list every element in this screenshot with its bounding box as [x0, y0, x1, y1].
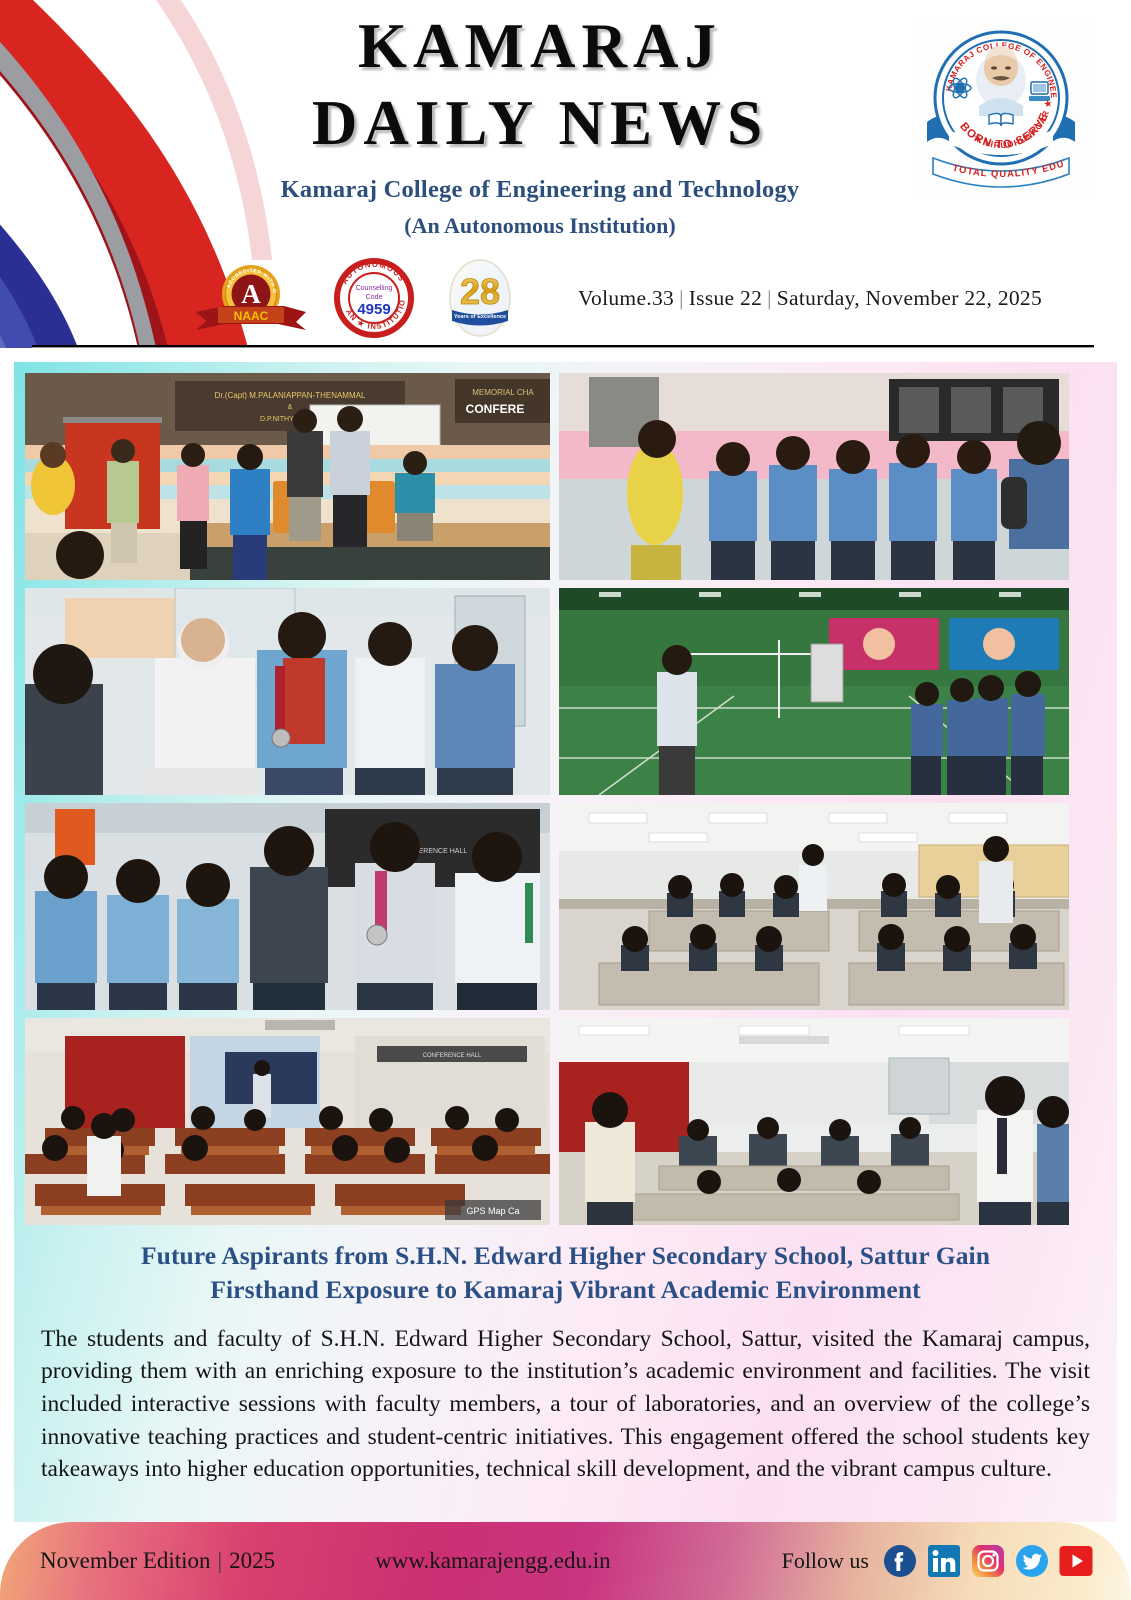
issue-line: Volume.33|Issue 22|Saturday, November 22…: [578, 286, 1042, 311]
autonomous-institution-badge: AUTONOMOUS AN ★ INSTITUTION Counselling …: [330, 258, 418, 338]
footer-separator: |: [211, 1548, 230, 1573]
gallery-photo: [25, 588, 550, 795]
gallery-photo: [559, 373, 1069, 580]
autonomy-status: (An Autonomous Institution): [175, 213, 905, 239]
svg-text:&: &: [288, 404, 293, 411]
story-headline-line2: Firsthand Exposure to Kamaraj Vibrant Ac…: [38, 1273, 1093, 1307]
svg-text:Code: Code: [366, 294, 383, 301]
masthead-header: KAMARAJ DAILY NEWS Kamaraj College of En…: [0, 0, 1131, 348]
footer-edition-label: November Edition: [40, 1548, 211, 1573]
story-body: The students and faculty of S.H.N. Edwar…: [38, 1323, 1093, 1486]
story-headline: Future Aspirants from S.H.N. Edward High…: [38, 1239, 1093, 1307]
svg-text:4959: 4959: [357, 301, 390, 318]
svg-text:CONFERE: CONFERE: [466, 402, 525, 416]
story-text-block: Future Aspirants from S.H.N. Edward High…: [25, 1225, 1106, 1486]
footer-social-block: Follow us: [782, 1544, 1093, 1578]
svg-text:NAAC: NAAC: [234, 309, 269, 323]
youtube-icon[interactable]: [1059, 1544, 1093, 1578]
footer-website[interactable]: www.kamarajengg.edu.in: [375, 1548, 610, 1574]
svg-text:Counselling: Counselling: [356, 285, 393, 292]
twitter-icon[interactable]: [1015, 1544, 1049, 1578]
svg-text:MEMORIAL CHA: MEMORIAL CHA: [472, 388, 534, 397]
naac-a-grade-badge: A ACCREDITED WITH GRADE NAAC: [192, 262, 310, 334]
gallery-photo: CONFERENCE HALL: [25, 1018, 550, 1225]
masthead-titles: KAMARAJ DAILY NEWS Kamaraj College of En…: [175, 8, 905, 239]
story-card: Dr.(Capt) M.PALANIAPPAN-THENAMMAL & D.P.…: [14, 362, 1117, 1522]
svg-text:GPS Map Ca: GPS Map Ca: [466, 1206, 519, 1216]
issue-separator-2: |: [762, 286, 777, 310]
college-crest-logo: KAMARAJ COLLEGE OF ENGINEERING & TECHNOL…: [913, 18, 1089, 194]
svg-text:A: A: [241, 279, 261, 309]
issue-separator-1: |: [674, 286, 689, 310]
issue-number: Issue 22: [689, 286, 762, 310]
gallery-photo: [559, 588, 1069, 795]
gallery-photo: [559, 803, 1069, 1010]
institution-name: Kamaraj College of Engineering and Techn…: [175, 176, 905, 204]
page-footer: November Edition|2025 www.kamarajengg.ed…: [0, 1522, 1131, 1600]
instagram-icon[interactable]: [971, 1544, 1005, 1578]
gallery-photo: Dr.(Capt) M.PALANIAPPAN-THENAMMAL & D.P.…: [25, 373, 550, 580]
header-divider-rule: [32, 345, 1094, 348]
follow-us-label: Follow us: [782, 1548, 869, 1574]
issue-date: Saturday, November 22, 2025: [777, 286, 1042, 310]
footer-edition: November Edition|2025: [40, 1548, 275, 1574]
svg-text:Dr.(Capt) M.PALANIAPPAN-THENAM: Dr.(Capt) M.PALANIAPPAN-THENAMMAL: [215, 391, 366, 400]
newsletter-title-line1: KAMARAJ: [175, 8, 905, 85]
story-headline-line1: Future Aspirants from S.H.N. Edward High…: [38, 1239, 1093, 1273]
newsletter-page: KAMARAJ DAILY NEWS Kamaraj College of En…: [0, 0, 1131, 1600]
svg-text:Years of Excellence: Years of Excellence: [454, 314, 506, 320]
footer-year: 2025: [229, 1548, 275, 1573]
linkedin-icon[interactable]: [927, 1544, 961, 1578]
svg-text:28: 28: [460, 271, 500, 312]
years-of-excellence-badge: 28 Years of Excellence: [440, 258, 520, 338]
gallery-photo: CONFERENCE HALL: [25, 803, 550, 1010]
volume-label: Volume.33: [578, 286, 674, 310]
svg-text:CONFERENCE HALL: CONFERENCE HALL: [423, 1053, 482, 1059]
newsletter-title-line2: DAILY NEWS: [175, 85, 905, 162]
facebook-icon[interactable]: [883, 1544, 917, 1578]
gallery-photo: [559, 1018, 1069, 1225]
photo-grid: Dr.(Capt) M.PALANIAPPAN-THENAMMAL & D.P.…: [25, 373, 1106, 1225]
accreditation-badges: A ACCREDITED WITH GRADE NAAC: [192, 258, 1072, 338]
